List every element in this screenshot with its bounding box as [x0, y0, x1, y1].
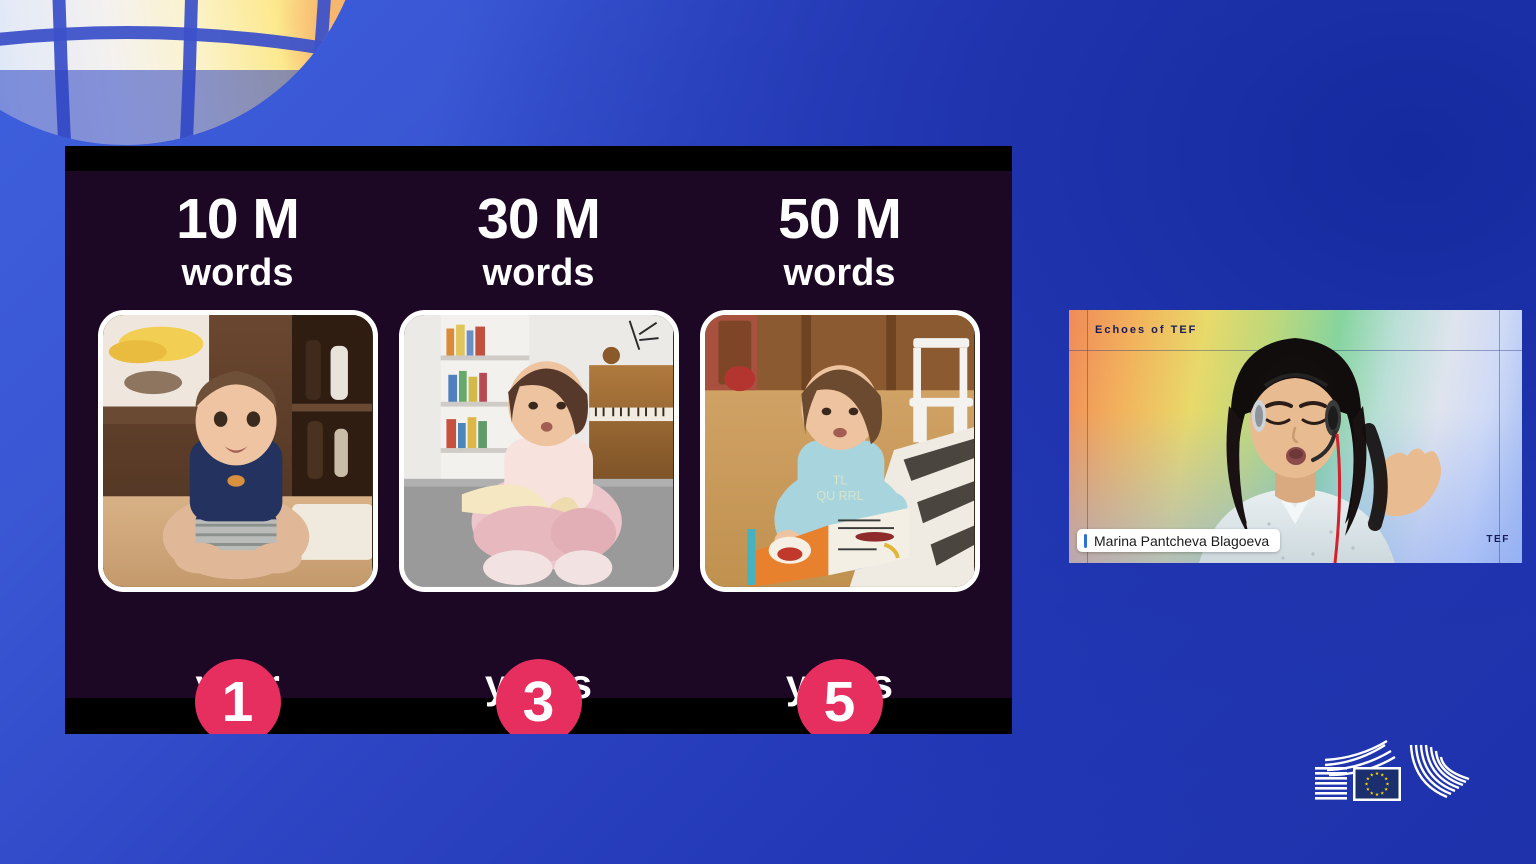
slide-content: 10 M words [65, 171, 1012, 698]
participant-name-badge: Marina Pantcheva Blagoeva [1077, 529, 1280, 552]
word-count-3: 50 M [778, 191, 901, 248]
slide-column-3: 50 M words [700, 171, 980, 705]
screen: 10 M words [0, 0, 1536, 864]
word-count-unit-3: words [784, 254, 896, 292]
slide-column-1: 10 M words [98, 171, 378, 705]
word-count-unit-2: words [483, 254, 595, 292]
slide-column-2: 30 M words [399, 171, 679, 705]
word-count-2: 30 M [477, 191, 600, 248]
word-count-1: 10 M [176, 191, 299, 248]
photo-girl-book-3: TL QU RRL [705, 315, 975, 587]
globe-grid-icon [0, 0, 520, 150]
svg-text:QU RRL: QU RRL [816, 489, 863, 503]
participant-video-tile[interactable]: Echoes of TEF TEF Marina Pantcheva Blago… [1069, 310, 1522, 563]
photo-frame-3: TL QU RRL [700, 310, 980, 592]
speaker-accent-bar-icon [1084, 534, 1087, 548]
photo-frame-1 [98, 310, 378, 592]
european-commission-logo [1313, 739, 1475, 813]
photo-toddler-1 [103, 315, 373, 587]
svg-text:TL: TL [832, 474, 847, 488]
shared-slide[interactable]: 10 M words [65, 146, 1012, 734]
word-count-unit-1: words [182, 254, 294, 292]
participant-name-text: Marina Pantcheva Blagoeva [1094, 533, 1269, 549]
speaker-webcam-figure [1069, 310, 1522, 563]
photo-girl-reading-2 [404, 315, 674, 587]
photo-frame-2 [399, 310, 679, 592]
